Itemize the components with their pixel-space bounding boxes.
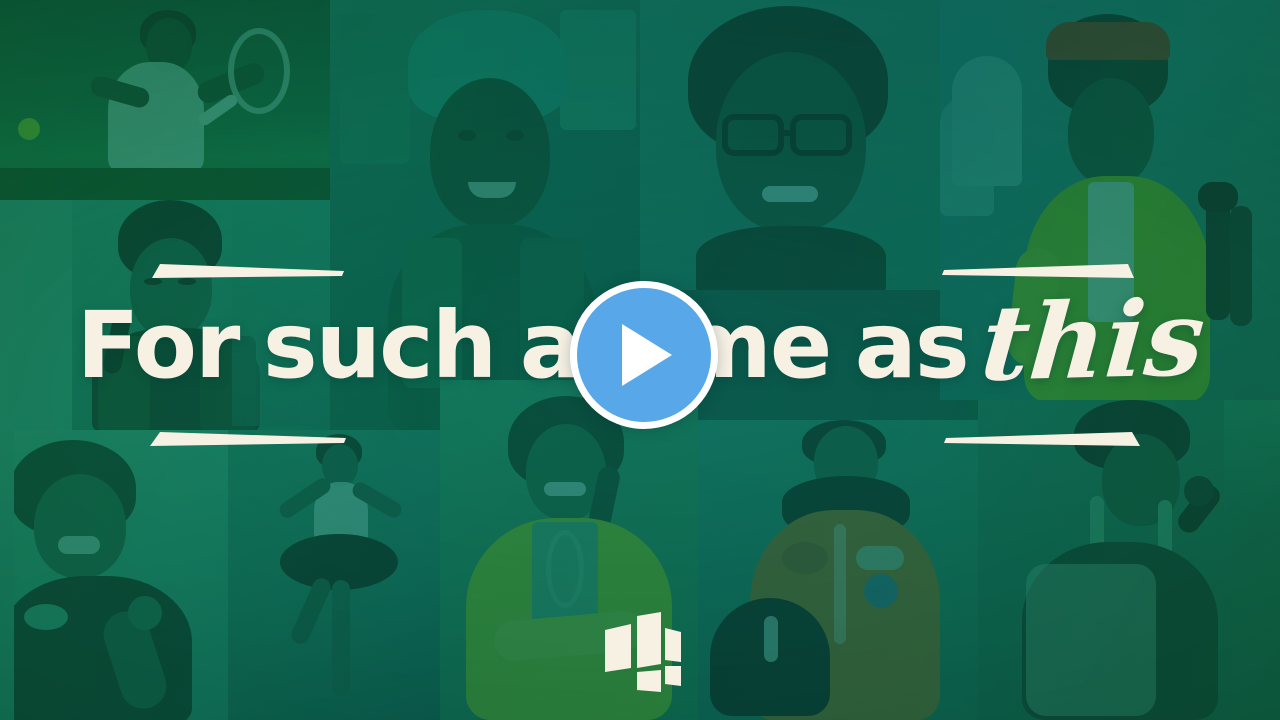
title-word-1: For bbox=[77, 292, 239, 400]
window-panes-logo bbox=[603, 612, 681, 692]
title-word-2: such bbox=[263, 292, 495, 400]
play-button[interactable] bbox=[570, 281, 718, 429]
dash-bottom-right bbox=[944, 428, 1140, 450]
dash-top-left bbox=[152, 260, 344, 282]
title-word-6: this bbox=[977, 284, 1208, 398]
video-player-frame: For such a time asthis bbox=[0, 0, 1280, 720]
title-word-5: as bbox=[855, 292, 968, 400]
play-triangle-icon bbox=[622, 324, 672, 386]
dash-bottom-left bbox=[150, 428, 346, 450]
